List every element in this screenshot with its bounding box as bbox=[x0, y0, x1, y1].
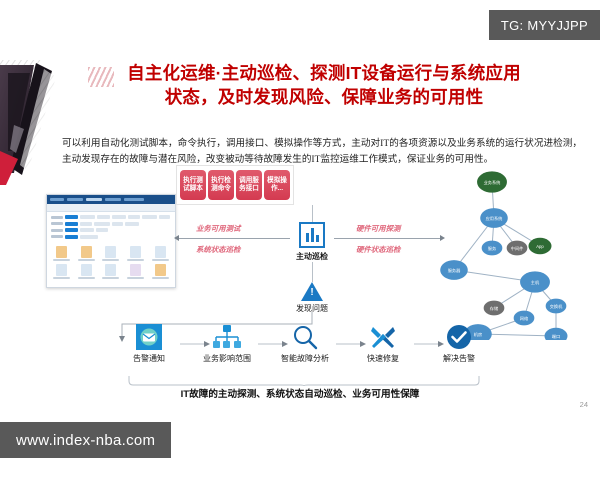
process-step-quick-fix[interactable]: 快速修复 bbox=[352, 322, 414, 364]
warning-node-issue-found[interactable]: 发现问题 bbox=[290, 282, 334, 314]
center-node-label: 主动巡检 bbox=[295, 251, 329, 262]
app-filter-panel bbox=[47, 212, 175, 244]
arrow-line-left bbox=[178, 238, 290, 239]
bar-chart-icon bbox=[299, 222, 325, 248]
center-node-active-inspection[interactable]: 主动巡检 bbox=[295, 222, 329, 262]
network-node[interactable]: 业务系统 bbox=[477, 171, 507, 192]
connector-boxes-to-center bbox=[312, 205, 313, 222]
network-node[interactable]: 中间件 bbox=[507, 241, 528, 256]
page-number: 24 bbox=[580, 400, 588, 409]
process-flow-row: 告警通知 业务影响范围 bbox=[118, 322, 490, 370]
wrench-screwdriver-icon bbox=[352, 322, 414, 352]
network-node-label: 中间件 bbox=[511, 245, 524, 252]
process-step-label: 解决告警 bbox=[428, 353, 490, 364]
network-node-label: 应用系统 bbox=[486, 215, 503, 222]
network-node[interactable]: 交换机 bbox=[546, 299, 567, 314]
network-node[interactable]: 存储 bbox=[484, 301, 505, 316]
network-node[interactable]: 服务 bbox=[482, 241, 503, 256]
network-node[interactable]: App bbox=[529, 238, 552, 254]
process-step-resolve-alert[interactable]: 解决告警 bbox=[428, 322, 490, 364]
network-node-label: 端口 bbox=[552, 333, 560, 340]
app-grid-tile bbox=[125, 264, 147, 279]
process-step-impact-scope[interactable]: 业务影响范围 bbox=[196, 322, 258, 364]
arrow-line-right bbox=[334, 238, 442, 239]
network-node-label: 主机 bbox=[531, 279, 540, 286]
flow-label-business-test: 业务可用测试 bbox=[196, 223, 240, 234]
app-grid-tile bbox=[100, 264, 122, 279]
network-node-label: 服务 bbox=[488, 245, 497, 252]
network-node[interactable]: 服务器 bbox=[440, 260, 468, 280]
network-node-label: 服务器 bbox=[448, 267, 461, 274]
network-node-label: 网络 bbox=[520, 315, 529, 322]
site-watermark: www.index-nba.com bbox=[0, 422, 171, 458]
app-grid-tile bbox=[76, 264, 98, 279]
process-step-alert-notify[interactable]: 告警通知 bbox=[118, 322, 180, 364]
network-node-label: 存储 bbox=[490, 305, 498, 312]
app-header-bar bbox=[47, 195, 175, 204]
flow-label-system-status-inspect: 系统状态巡检 bbox=[196, 244, 240, 255]
network-node[interactable]: 网络 bbox=[514, 311, 535, 326]
magnifier-icon bbox=[274, 322, 336, 352]
title-line-1: 自主化运维·主动巡检、探测IT设备运行与系统应用 bbox=[127, 63, 521, 83]
check-circle-icon bbox=[428, 322, 490, 352]
diagram-caption: IT故障的主动探测、系统状态自动巡检、业务可用性保障 bbox=[0, 386, 600, 400]
network-topology-graph[interactable]: 业务系统应用系统服务中间件App服务器主机存储网络交换机机房端口 bbox=[432, 160, 600, 340]
envelope-icon bbox=[118, 322, 180, 352]
process-step-label: 快速修复 bbox=[352, 353, 414, 364]
action-box-execute-command[interactable]: 执行检测命令 bbox=[208, 170, 234, 200]
diagram-area: 执行测试脚本 执行检测命令 调用服务接口 模拟操作... 业务可用测试 系统状态… bbox=[0, 160, 600, 410]
title-hatch-decoration bbox=[88, 67, 114, 87]
network-node[interactable]: 应用系统 bbox=[480, 208, 508, 228]
flow-label-hardware-probe: 硬件可用探测 bbox=[356, 223, 400, 234]
process-step-fault-analysis[interactable]: 智能故障分析 bbox=[274, 322, 336, 364]
warning-triangle-icon bbox=[301, 282, 323, 301]
network-node-label: App bbox=[536, 244, 544, 249]
action-box-simulate-operation[interactable]: 模拟操作... bbox=[264, 170, 290, 200]
action-box-execute-script[interactable]: 执行测试脚本 bbox=[180, 170, 206, 200]
title-line-2: 状态，及时发现风险、保障业务的可用性 bbox=[110, 86, 538, 110]
action-box-call-service-api[interactable]: 调用服务接口 bbox=[236, 170, 262, 200]
app-grid-tile bbox=[149, 246, 171, 261]
network-node[interactable]: 主机 bbox=[520, 271, 550, 292]
app-screenshot-thumbnail[interactable] bbox=[46, 194, 176, 288]
app-subheader bbox=[47, 204, 175, 212]
arrow-head-left bbox=[174, 235, 179, 241]
flow-label-hardware-status-inspect: 硬件状态巡检 bbox=[356, 244, 400, 255]
org-chart-icon bbox=[196, 322, 258, 352]
app-grid-tile bbox=[51, 264, 73, 279]
slide-title-block: 自主化运维·主动巡检、探测IT设备运行与系统应用 状态，及时发现风险、保障业务的… bbox=[88, 62, 538, 109]
network-node[interactable]: 端口 bbox=[545, 328, 568, 340]
telegram-watermark: TG: MYYJJPP bbox=[489, 10, 600, 40]
process-step-label: 业务影响范围 bbox=[196, 353, 258, 364]
app-grid-tile bbox=[100, 246, 122, 261]
page-title: 自主化运维·主动巡检、探测IT设备运行与系统应用 状态，及时发现风险、保障业务的… bbox=[88, 62, 538, 109]
process-step-label: 告警通知 bbox=[118, 353, 180, 364]
app-icon-grid bbox=[47, 244, 175, 281]
process-step-label: 智能故障分析 bbox=[274, 353, 336, 364]
network-node-label: 业务系统 bbox=[484, 179, 501, 186]
app-grid-tile bbox=[125, 246, 147, 261]
network-node-label: 交换机 bbox=[550, 303, 563, 310]
app-grid-tile bbox=[76, 246, 98, 261]
caption-bracket bbox=[128, 376, 480, 386]
connector-center-to-warning bbox=[312, 262, 313, 282]
app-grid-tile bbox=[51, 246, 73, 261]
app-grid-tile bbox=[149, 264, 171, 279]
action-methods-group: 执行测试脚本 执行检测命令 调用服务接口 模拟操作... bbox=[176, 165, 294, 205]
slide-canvas: TG: MYYJJPP 自主 bbox=[0, 0, 600, 480]
